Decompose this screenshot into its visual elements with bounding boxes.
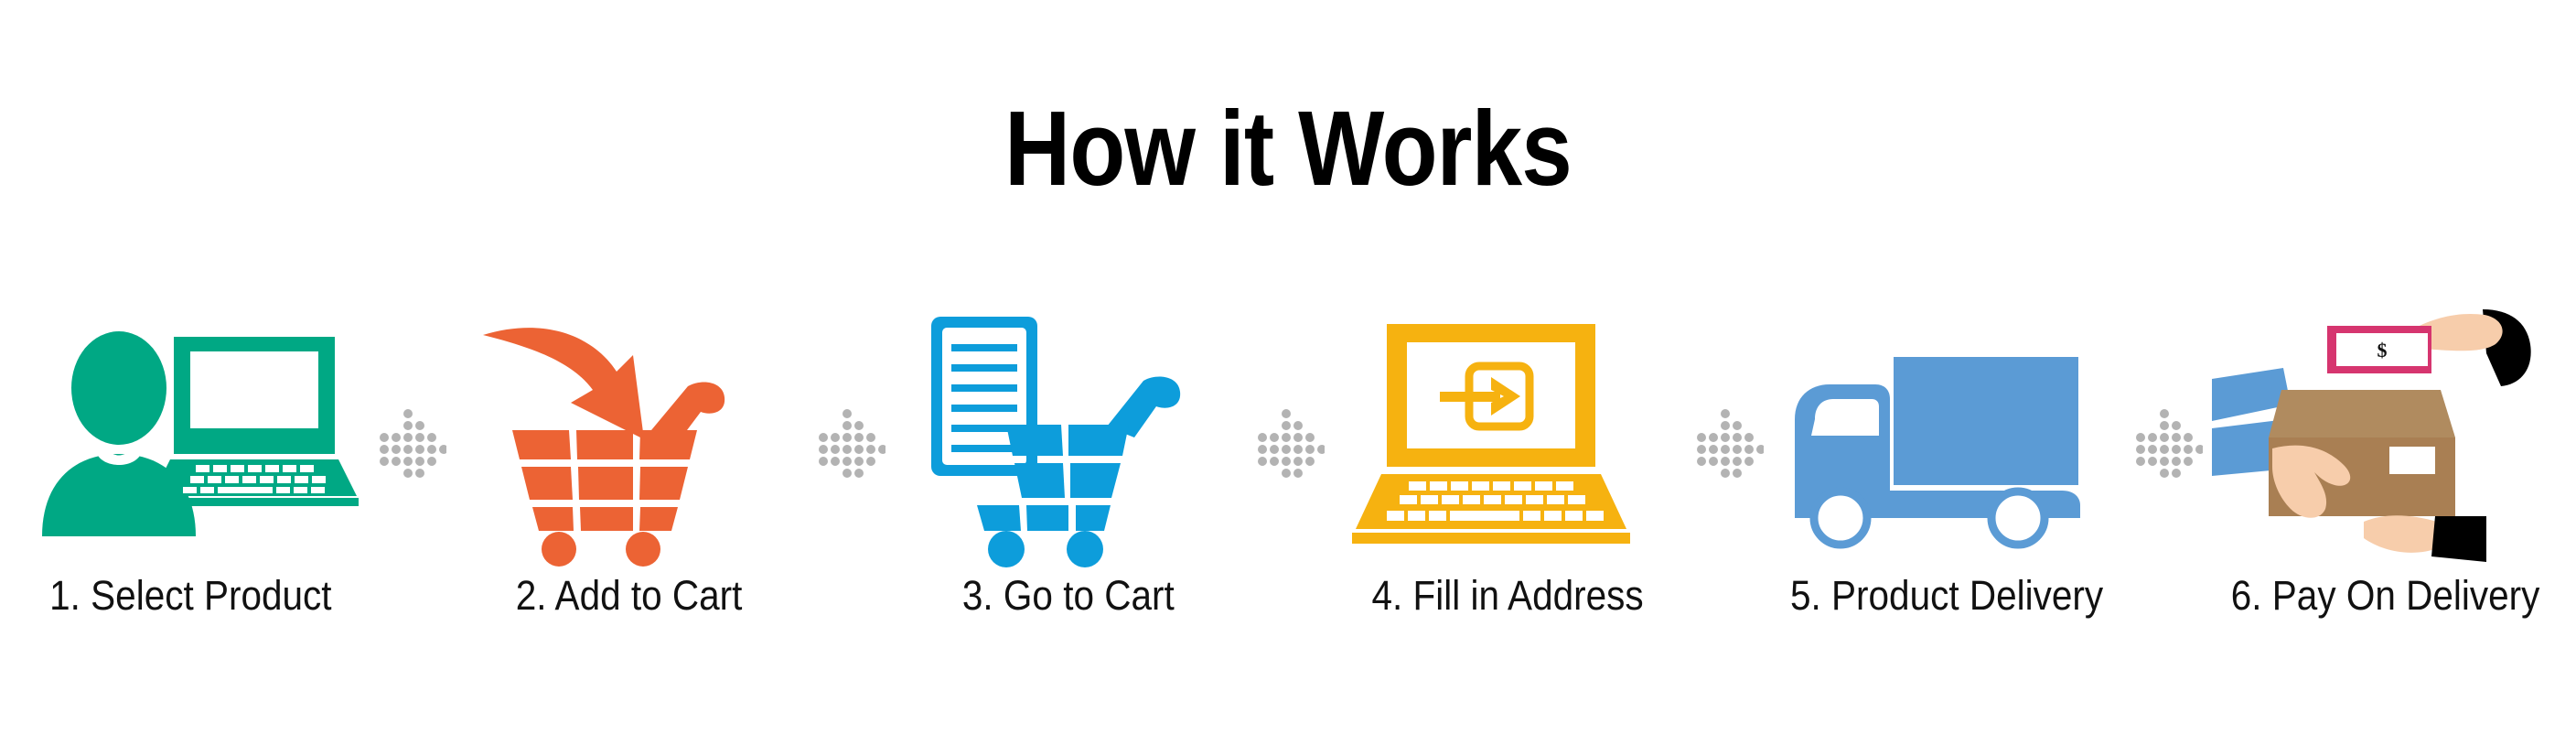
how-it-works-infographic: How it Works [0, 0, 2576, 745]
step-3-label: 3. Go to Cart [962, 573, 1175, 619]
step-6-pay-on-delivery[interactable]: $ [2212, 302, 2560, 686]
banknote: $ [2327, 326, 2431, 373]
person-at-laptop-icon [16, 302, 364, 567]
step-2-label: 2. Add to Cart [516, 573, 743, 619]
laptop-login-icon [1334, 302, 1681, 567]
step-5-product-delivery[interactable]: 5. Product Delivery [1773, 302, 2120, 686]
step-1-select-product[interactable]: 1. Select Product [16, 302, 364, 686]
step-5-label: 5. Product Delivery [1790, 573, 2103, 619]
step-4-label: 4. Fill in Address [1371, 573, 1643, 619]
page-title: How it Works [180, 95, 2396, 201]
dotted-arrow-right-icon [364, 302, 456, 686]
dotted-arrow-right-icon [1242, 302, 1334, 686]
dotted-arrow-right-icon [1681, 302, 1773, 686]
step-4-fill-in-address[interactable]: 4. Fill in Address [1334, 302, 1681, 686]
dotted-arrow-right-icon [2120, 302, 2212, 686]
step-3-go-to-cart[interactable]: 3. Go to Cart [895, 302, 1242, 686]
document-and-cart-icon [895, 302, 1242, 567]
delivery-truck-icon [1773, 302, 2120, 567]
step-6-label: 6. Pay On Delivery [2231, 573, 2540, 619]
step-2-add-to-cart[interactable]: 2. Add to Cart [456, 302, 803, 686]
money-symbol: $ [2377, 339, 2388, 362]
hands-exchanging-box-and-money-icon: $ [2212, 302, 2560, 567]
steps-strip: 1. Select Product [0, 302, 2576, 686]
dotted-arrow-right-icon [803, 302, 895, 686]
step-1-label: 1. Select Product [49, 573, 331, 619]
shopping-cart-with-arrow-icon [456, 302, 803, 567]
